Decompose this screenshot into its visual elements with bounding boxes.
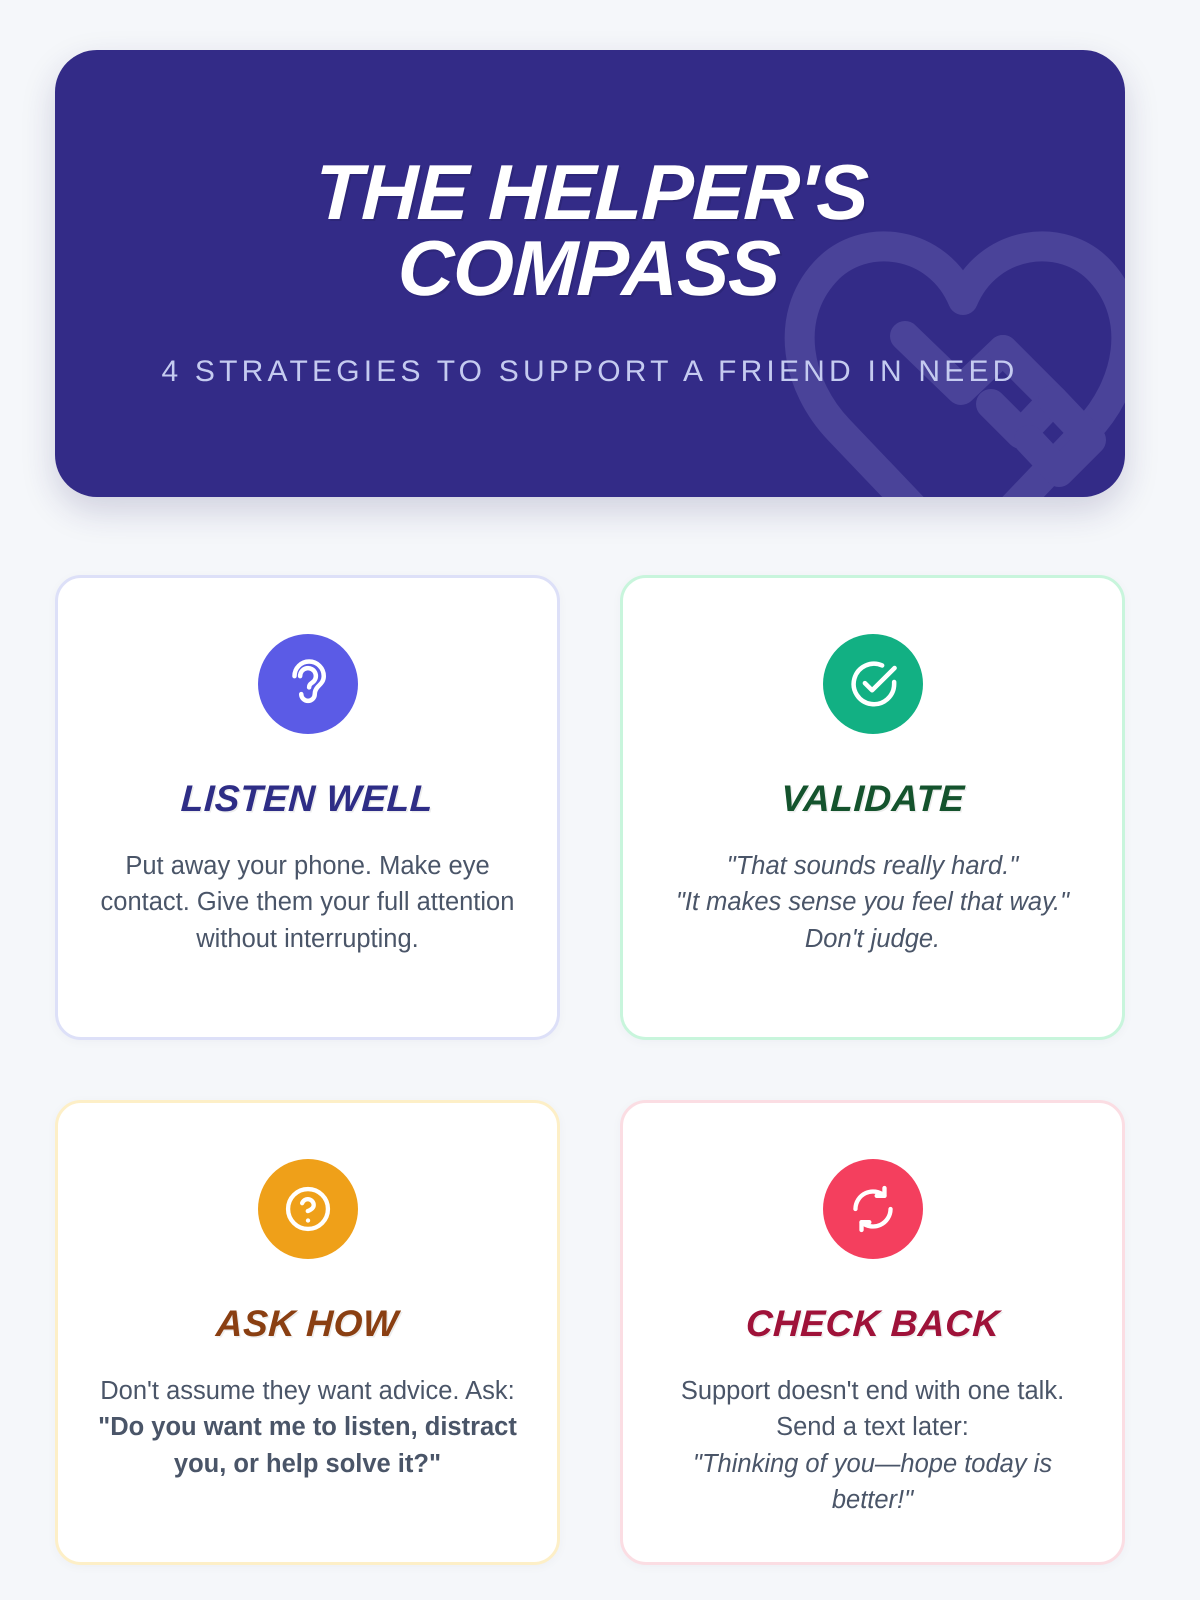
card-title-listen-well: LISTEN WELL xyxy=(180,778,434,820)
icon-badge-listen-well xyxy=(258,634,358,734)
card-line: Put away your phone. Make eye contact. G… xyxy=(98,848,518,957)
icon-badge-ask-how xyxy=(258,1159,358,1259)
refresh-cycle-icon xyxy=(847,1183,899,1235)
card-body-check-back: Support doesn't end with one talk. Send … xyxy=(663,1373,1083,1519)
card-line: "Do you want me to listen, distract you,… xyxy=(98,1409,518,1482)
card-body-ask-how: Don't assume they want advice. Ask: "Do … xyxy=(98,1373,518,1482)
card-line: "That sounds really hard." xyxy=(676,848,1069,884)
strategy-card-validate: VALIDATE "That sounds really hard." "It … xyxy=(620,575,1125,1040)
page-subtitle: 4 STRATEGIES TO SUPPORT A FRIEND IN NEED xyxy=(161,352,1018,392)
card-line: "It makes sense you feel that way." xyxy=(676,884,1069,920)
check-circle-icon xyxy=(846,657,900,711)
icon-badge-check-back xyxy=(823,1159,923,1259)
strategy-card-listen-well: LISTEN WELL Put away your phone. Make ey… xyxy=(55,575,560,1040)
ear-icon xyxy=(281,657,335,711)
card-line: Don't judge. xyxy=(676,921,1069,957)
strategy-card-grid: LISTEN WELL Put away your phone. Make ey… xyxy=(55,575,1145,1565)
page-title: THE HELPER'S COMPASS xyxy=(207,155,972,306)
infographic-page: THE HELPER'S COMPASS 4 STRATEGIES TO SUP… xyxy=(0,0,1200,1600)
card-body-listen-well: Put away your phone. Make eye contact. G… xyxy=(98,848,518,957)
card-body-validate: "That sounds really hard." "It makes sen… xyxy=(676,848,1069,957)
card-line: Support doesn't end with one talk. Send … xyxy=(663,1373,1083,1446)
strategy-card-check-back: CHECK BACK Support doesn't end with one … xyxy=(620,1100,1125,1565)
icon-badge-validate xyxy=(823,634,923,734)
strategy-card-ask-how: ASK HOW Don't assume they want advice. A… xyxy=(55,1100,560,1565)
card-title-check-back: CHECK BACK xyxy=(745,1303,1001,1345)
card-line: "Thinking of you—hope today is better!" xyxy=(663,1446,1083,1519)
card-line: Don't assume they want advice. Ask: xyxy=(98,1373,518,1409)
card-title-validate: VALIDATE xyxy=(780,778,966,820)
card-title-ask-how: ASK HOW xyxy=(215,1303,400,1345)
question-circle-icon xyxy=(282,1183,334,1235)
header-banner: THE HELPER'S COMPASS 4 STRATEGIES TO SUP… xyxy=(55,50,1125,497)
